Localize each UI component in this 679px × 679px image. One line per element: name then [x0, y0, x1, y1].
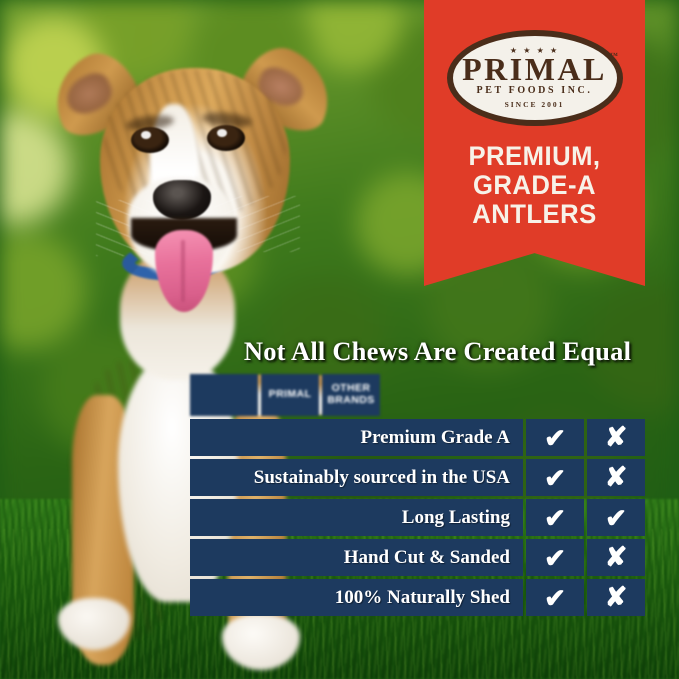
feature-label: Premium Grade A [190, 419, 523, 456]
primal-mark-check-icon: ✔ [526, 459, 584, 496]
comparison-table: PRIMAL OTHER BRANDS Premium Grade A ✔ ✘ … [190, 374, 645, 616]
tagline-line-2: GRADE-A [468, 171, 600, 200]
table-row: Sustainably sourced in the USA ✔ ✘ [190, 459, 645, 496]
primal-logo: ★ ★ ★ ★ PRIMAL ™ PET FOODS INC. SINCE 20… [447, 30, 623, 126]
feature-label: 100% Naturally Shed [190, 579, 523, 616]
other-mark-cross-icon: ✘ [587, 539, 645, 576]
logo-wordmark: PRIMAL ™ [462, 54, 607, 84]
logo-since: SINCE 2001 [505, 100, 565, 109]
table-header-primal: PRIMAL [261, 374, 319, 416]
primal-mark-check-icon: ✔ [526, 539, 584, 576]
comparison-headline: Not All Chews Are Created Equal [0, 336, 679, 367]
product-lifestyle-image: ★ ★ ★ ★ PRIMAL ™ PET FOODS INC. SINCE 20… [0, 0, 679, 679]
logo-wordmark-text: PRIMAL [462, 51, 607, 87]
other-brands-line-1: OTHER [332, 382, 371, 394]
table-header-other-brands: OTHER BRANDS [322, 374, 380, 416]
table-header-blank [190, 374, 258, 416]
table-row: Hand Cut & Sanded ✔ ✘ [190, 539, 645, 576]
primal-mark-check-icon: ✔ [526, 579, 584, 616]
banner-tagline: PREMIUM, GRADE-A ANTLERS [468, 142, 600, 229]
feature-label: Long Lasting [190, 499, 523, 536]
feature-label: Hand Cut & Sanded [190, 539, 523, 576]
tagline-line-1: PREMIUM, [468, 142, 600, 171]
other-mark-cross-icon: ✘ [587, 579, 645, 616]
other-mark-cross-icon: ✘ [587, 459, 645, 496]
brand-ribbon-banner: ★ ★ ★ ★ PRIMAL ™ PET FOODS INC. SINCE 20… [424, 0, 645, 286]
primal-mark-check-icon: ✔ [526, 419, 584, 456]
table-row: Premium Grade A ✔ ✘ [190, 419, 645, 456]
table-header-row: PRIMAL OTHER BRANDS [190, 374, 380, 416]
dog-eye-left [131, 127, 169, 153]
trademark-icon: ™ [610, 52, 618, 60]
table-row: 100% Naturally Shed ✔ ✘ [190, 579, 645, 616]
other-brands-line-2: BRANDS [327, 394, 374, 406]
other-mark-cross-icon: ✘ [587, 419, 645, 456]
dog-paw-right [222, 614, 300, 670]
table-row: Long Lasting ✔ ✔ [190, 499, 645, 536]
primal-mark-check-icon: ✔ [526, 499, 584, 536]
logo-subtitle: PET FOODS INC. [477, 86, 593, 96]
other-mark-check-icon: ✔ [587, 499, 645, 536]
feature-label: Sustainably sourced in the USA [190, 459, 523, 496]
dog-eye-right [207, 125, 245, 151]
tagline-line-3: ANTLERS [468, 200, 600, 229]
